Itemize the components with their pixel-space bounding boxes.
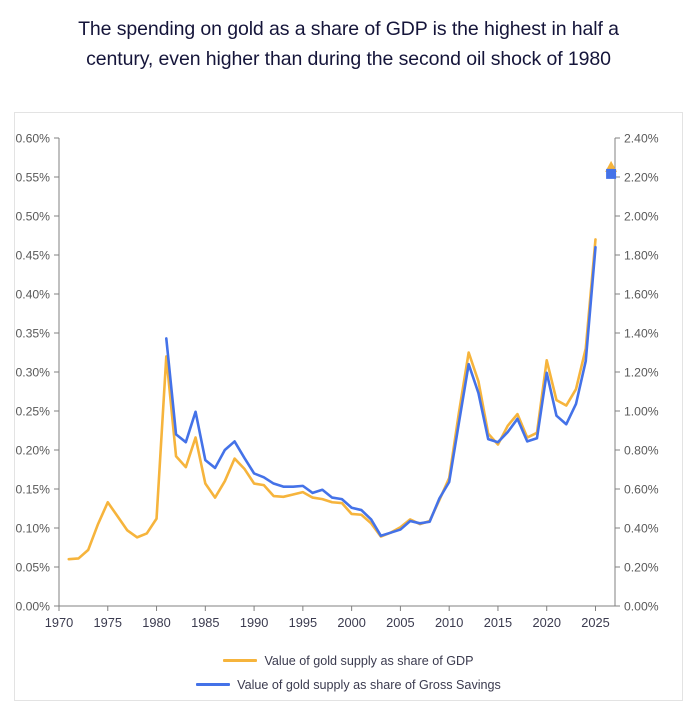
x-axis-tick-label: 1990 bbox=[240, 615, 268, 630]
left-axis-tick-label: 0.55% bbox=[15, 171, 50, 185]
plot-svg: 0.00%0.05%0.10%0.15%0.20%0.25%0.30%0.35%… bbox=[14, 112, 683, 701]
x-axis-tick-label: 2000 bbox=[337, 615, 365, 630]
left-axis-tick-label: 0.35% bbox=[15, 327, 50, 341]
left-axis-tick-label: 0.40% bbox=[15, 288, 50, 302]
x-axis-tick-label: 2005 bbox=[386, 615, 414, 630]
forecast-marker-savings bbox=[606, 169, 616, 179]
chart-legend: Value of gold supply as share of GDP Val… bbox=[0, 648, 697, 696]
left-axis-tick-label: 0.25% bbox=[15, 405, 50, 419]
legend-item-savings[interactable]: Value of gold supply as share of Gross S… bbox=[0, 672, 697, 696]
left-axis-tick-label: 0.20% bbox=[15, 444, 50, 458]
left-axis-tick-label: 0.50% bbox=[15, 210, 50, 224]
x-axis-tick-label: 1995 bbox=[289, 615, 317, 630]
x-axis-tick-label: 2010 bbox=[435, 615, 463, 630]
legend-label-savings: Value of gold supply as share of Gross S… bbox=[237, 673, 501, 697]
right-axis-tick-label: 2.00% bbox=[624, 210, 659, 224]
legend-item-gdp[interactable]: Value of gold supply as share of GDP bbox=[0, 648, 697, 672]
x-axis-tick-label: 2025 bbox=[581, 615, 609, 630]
right-axis-tick-label: 1.60% bbox=[624, 288, 659, 302]
right-axis-tick-label: 1.80% bbox=[624, 249, 659, 263]
right-axis-tick-label: 1.00% bbox=[624, 405, 659, 419]
right-axis-tick-label: 1.40% bbox=[624, 327, 659, 341]
right-axis-tick-label: 0.20% bbox=[624, 561, 659, 575]
legend-swatch-gdp bbox=[223, 659, 257, 662]
series-line-savings bbox=[166, 247, 595, 536]
right-axis-tick-label: 0.60% bbox=[624, 483, 659, 497]
left-axis-tick-label: 0.05% bbox=[15, 561, 50, 575]
series-line-gdp bbox=[69, 239, 596, 559]
legend-label-gdp: Value of gold supply as share of GDP bbox=[264, 649, 473, 673]
right-axis-tick-label: 0.40% bbox=[624, 522, 659, 536]
right-axis-tick-label: 1.20% bbox=[624, 366, 659, 380]
x-axis-tick-label: 1970 bbox=[45, 615, 73, 630]
x-axis-tick-label: 2015 bbox=[484, 615, 512, 630]
left-axis-tick-label: 0.00% bbox=[15, 600, 50, 614]
left-axis-tick-label: 0.60% bbox=[15, 132, 50, 146]
chart-title: The spending on gold as a share of GDP i… bbox=[0, 14, 697, 74]
x-axis-tick-label: 2020 bbox=[532, 615, 560, 630]
chart-title-line-1: The spending on gold as a share of GDP i… bbox=[0, 14, 697, 44]
x-axis-tick-label: 1985 bbox=[191, 615, 219, 630]
chart-title-line-2: century, even higher than during the sec… bbox=[0, 44, 697, 74]
left-axis-tick-label: 0.45% bbox=[15, 249, 50, 263]
right-axis-tick-label: 2.40% bbox=[624, 132, 659, 146]
chart-container: The spending on gold as a share of GDP i… bbox=[0, 0, 697, 717]
right-axis-tick-label: 0.80% bbox=[624, 444, 659, 458]
right-axis-tick-label: 2.20% bbox=[624, 171, 659, 185]
x-axis-tick-label: 1980 bbox=[142, 615, 170, 630]
legend-swatch-savings bbox=[196, 683, 230, 686]
x-axis-tick-label: 1975 bbox=[94, 615, 122, 630]
left-axis-tick-label: 0.10% bbox=[15, 522, 50, 536]
right-axis-tick-label: 0.00% bbox=[624, 600, 659, 614]
left-axis-tick-label: 0.30% bbox=[15, 366, 50, 380]
left-axis-tick-label: 0.15% bbox=[15, 483, 50, 497]
